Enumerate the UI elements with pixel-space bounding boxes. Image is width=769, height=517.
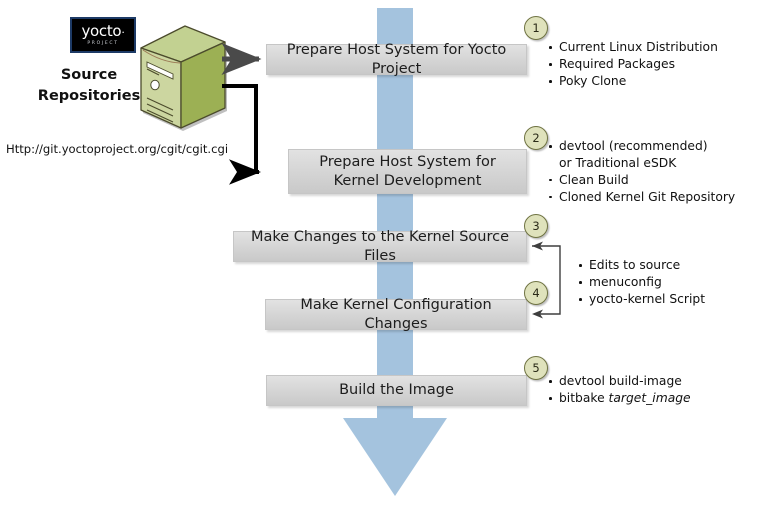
logo-wordmark-text: yocto	[81, 22, 121, 40]
step-box-1-label: Prepare Host System for Yocto Project	[275, 41, 518, 79]
step-number-5: 5	[524, 356, 548, 380]
step-box-2-label: Prepare Host System for Kernel Developme…	[297, 153, 518, 191]
loop-arrowhead-step4	[532, 310, 543, 319]
loop-arrowhead-step3	[532, 242, 543, 251]
logo-dot: ·	[121, 26, 124, 39]
step-number-1: 1	[524, 16, 548, 40]
step-box-3[interactable]: Make Changes to the Kernel Source Files	[233, 231, 527, 262]
step-box-5-label: Build the Image	[339, 381, 454, 400]
step-box-1[interactable]: Prepare Host System for Yocto Project	[266, 44, 527, 75]
bullet-item: Required Packages	[548, 56, 718, 73]
step-number-1-text: 1	[532, 21, 539, 35]
step-box-5[interactable]: Build the Image	[266, 375, 527, 406]
bullet-text: bitbake	[559, 391, 609, 405]
source-repositories-label: Source Repositories	[34, 65, 144, 107]
logo-subtext: PROJECT	[87, 41, 118, 46]
step-box-4-label: Make Kernel Configuration Changes	[274, 296, 518, 334]
source-repository-url: Http://git.yoctoproject.org/cgit/cgit.cg…	[6, 142, 228, 156]
step-number-4: 4	[524, 281, 548, 305]
step-box-4[interactable]: Make Kernel Configuration Changes	[265, 299, 527, 330]
server-tower-icon	[133, 22, 229, 132]
bullet-item: devtool (recommended) or Traditional eSD…	[548, 138, 719, 171]
step-box-3-label: Make Changes to the Kernel Source Files	[242, 228, 518, 266]
source-label-line1: Source	[34, 65, 144, 86]
bullet-text-italic: target_image	[609, 391, 691, 405]
step-1-bullets: Current Linux Distribution Required Pack…	[548, 39, 718, 90]
step-number-5-text: 5	[532, 361, 539, 375]
bullet-text: devtool build-image	[559, 374, 682, 388]
step-number-3-text: 3	[532, 219, 539, 233]
bullet-item: bitbake target_image	[548, 390, 691, 407]
bullet-item: Edits to source	[578, 257, 705, 274]
bullet-item: devtool build-image	[548, 373, 691, 390]
source-label-line2: Repositories	[34, 86, 144, 107]
diagram-canvas: yocto· PROJECT Source Repositories Http:…	[0, 0, 769, 517]
bullet-item: Clean Build	[548, 172, 735, 189]
bullet-item: Cloned Kernel Git Repository	[548, 189, 735, 206]
bullet-item: Poky Clone	[548, 73, 718, 90]
process-flow-arrowhead	[343, 418, 447, 496]
bullet-item: Current Linux Distribution	[548, 39, 718, 56]
bullet-item: yocto-kernel Script	[578, 291, 705, 308]
step-2-bullets: devtool (recommended) or Traditional eSD…	[548, 138, 735, 206]
steps-3-4-shared-bullets: Edits to source menuconfig yocto-kernel …	[578, 257, 705, 308]
step-number-2: 2	[524, 126, 548, 150]
bullet-item: menuconfig	[578, 274, 705, 291]
step-number-2-text: 2	[532, 131, 539, 145]
step-box-2[interactable]: Prepare Host System for Kernel Developme…	[288, 149, 527, 194]
step-number-4-text: 4	[532, 286, 539, 300]
step-5-bullets: devtool build-image bitbake target_image	[548, 373, 691, 407]
step-number-3: 3	[524, 214, 548, 238]
yocto-project-logo: yocto· PROJECT	[70, 17, 136, 53]
logo-wordmark: yocto·	[81, 24, 124, 40]
